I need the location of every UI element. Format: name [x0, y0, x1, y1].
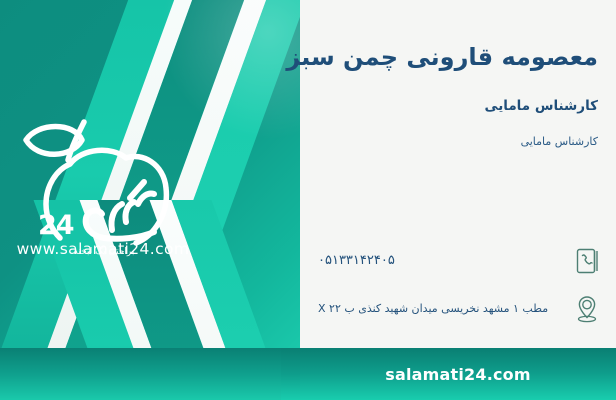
specialty-secondary: کارشناس مامایی — [521, 135, 598, 148]
logo-24-badge: 24 — [38, 210, 74, 241]
footer-website[interactable]: salamati24.com — [385, 365, 531, 384]
footer-left-block — [0, 348, 306, 400]
logo-website-url: www.salamati24.com — [8, 240, 198, 258]
phone-number: ۰۵۱۳۳۱۴۲۴۰۵ — [314, 253, 560, 270]
contact-row-phone[interactable]: ۰۵۱۳۳۱۴۲۴۰۵ — [314, 243, 604, 279]
contact-list: ۰۵۱۳۳۱۴۲۴۰۵ مطب ۱ مشهد نخریسی میدان شهید… — [314, 243, 604, 339]
logo-wordmark-shape — [86, 182, 154, 239]
business-card: 24 براحتی یک لبخند www.salamati24.com مع… — [0, 0, 616, 400]
footer-bar: salamati24.com — [300, 348, 616, 400]
phonebook-icon — [570, 243, 604, 279]
svg-text:24: 24 — [38, 210, 74, 241]
contact-row-address[interactable]: مطب ۱ مشهد نخریسی میدان شهید کنذی ب ۲۲ X — [314, 291, 604, 327]
salamati24-logo: 24 براحتی یک لبخند www.salamati24.com — [8, 112, 198, 272]
page-title: معصومه قارونی چمن سبز — [286, 42, 598, 72]
address-text: مطب ۱ مشهد نخریسی میدان شهید کنذی ب ۲۲ X — [314, 302, 560, 316]
content-panel: معصومه قارونی چمن سبز کارشناس مامایی کار… — [308, 0, 616, 400]
map-pin-icon — [570, 291, 604, 327]
specialty-primary: کارشناس مامایی — [485, 98, 598, 114]
